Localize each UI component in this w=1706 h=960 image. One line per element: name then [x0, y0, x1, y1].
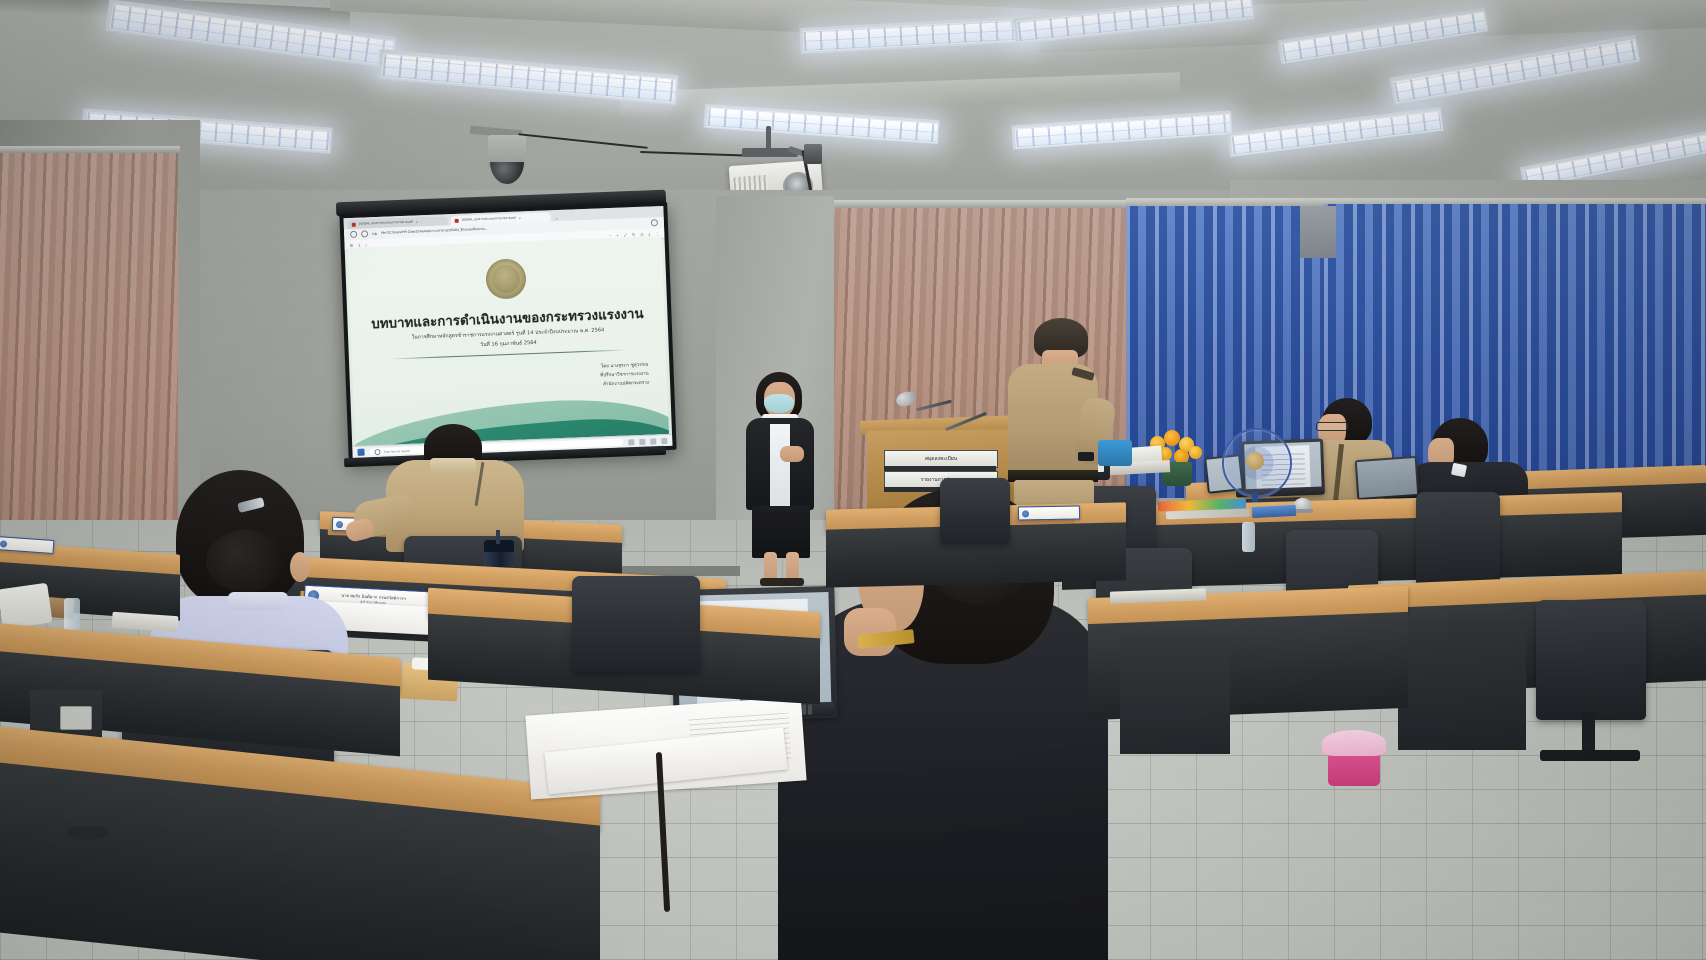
- star-icon[interactable]: [651, 219, 658, 226]
- pdf-favicon: [352, 222, 356, 226]
- print-icon[interactable]: ⎙: [640, 231, 643, 236]
- projector-accessory: [804, 144, 822, 164]
- flower: [1164, 430, 1180, 446]
- flower: [1189, 446, 1202, 459]
- collar-student-lilac: [228, 592, 288, 610]
- shirt-presenter: [770, 424, 790, 508]
- search-icon[interactable]: ⌕: [365, 242, 367, 247]
- water-tumbler-straw: [496, 530, 500, 544]
- page-number-field[interactable]: 1: [358, 242, 360, 247]
- curtain-rod-left: [0, 146, 180, 153]
- back-arrow-icon[interactable]: [350, 231, 357, 238]
- skirt-presenter: [752, 506, 810, 558]
- pdf-favicon: [455, 218, 459, 222]
- podium-binder-1-label: สมุดลงทะเบียน: [925, 455, 957, 463]
- chair-right-5[interactable]: [1536, 600, 1646, 720]
- laptop-right-far[interactable]: [1355, 456, 1420, 500]
- more-icon[interactable]: ⋮: [655, 231, 659, 236]
- bag-white-left: [0, 583, 53, 630]
- desk-cable-hole: [66, 826, 110, 840]
- chair-right-4[interactable]: [1416, 492, 1500, 588]
- slide-byline-1: โดย นางสุรภา ชูสุวรรณ: [601, 362, 649, 371]
- browser-icon[interactable]: [650, 438, 656, 444]
- new-tab-icon[interactable]: +: [556, 217, 558, 221]
- search-icon: [374, 448, 380, 454]
- garuda-ministry-emblem-icon: [485, 258, 527, 300]
- slide-byline-3: สำนักงานปลัดกระทรวง: [603, 380, 649, 389]
- placard-seal-icon: [1022, 510, 1029, 517]
- close-icon[interactable]: ×: [416, 220, 418, 224]
- floor-outlet: [60, 706, 92, 730]
- reload-icon[interactable]: [361, 230, 368, 237]
- download-icon[interactable]: ⤓: [648, 231, 650, 236]
- blue-bag-podium: [1098, 440, 1132, 466]
- classroom-scene: 165264_เอกสารประกอบการบรรยาย.pdf × 16526…: [0, 0, 1706, 960]
- chair-right-5-base: [1540, 750, 1640, 761]
- curtain-rod-back: [822, 200, 1170, 208]
- placard-right-mid-text: [1031, 513, 1076, 514]
- projection-screen: 165264_เอกสารประกอบการบรรยาย.pdf × 16526…: [339, 202, 676, 462]
- taskview-icon[interactable]: [628, 439, 634, 445]
- desk-lower-right-pedestal: [1120, 634, 1230, 754]
- address-file-label: File: [372, 231, 377, 235]
- zoom-out-icon[interactable]: −: [609, 232, 612, 237]
- book-blue-mid: [1252, 505, 1297, 518]
- mail-icon[interactable]: [661, 437, 667, 443]
- rotate-icon[interactable]: ↻: [632, 232, 636, 237]
- desk-right-front-pedestal: [1398, 620, 1526, 750]
- bottle-left-foreground: [64, 598, 80, 632]
- menu-icon[interactable]: ☰: [349, 242, 353, 247]
- pdf-slide-page: บทบาทและการดำเนินงานของกระทรวงแรงงาน ในก…: [348, 236, 669, 446]
- hair-bun-student-lilac: [206, 530, 284, 592]
- face-mask-presenter: [764, 394, 794, 413]
- placard-right-mid: [1018, 505, 1080, 520]
- placard-seal-icon: [0, 540, 7, 547]
- sanitizer-bottle: [1242, 522, 1255, 552]
- browser-tab-2-label: 165264_เอกสารประกอบการบรรยาย.pdf: [462, 216, 516, 223]
- curtain-valance: [1300, 206, 1336, 258]
- fit-page-icon[interactable]: ⤢: [624, 232, 627, 237]
- placard-edge-left-text: [9, 544, 50, 547]
- glasses-icon: [1316, 422, 1348, 431]
- taskbar-search-placeholder: Type here to search: [383, 448, 410, 453]
- watch-officer-podium: [1078, 452, 1094, 461]
- ear-student-lilac: [290, 552, 310, 582]
- chair-center-mid[interactable]: [572, 576, 700, 672]
- slide-byline-2: ที่ปรึกษาวิชาการแรงงาน: [600, 371, 649, 380]
- trash-bag-liner: [1322, 730, 1386, 756]
- collar-student-khaki: [430, 458, 476, 472]
- zoom-in-icon[interactable]: +: [616, 232, 619, 237]
- projection-screen-surface: 165264_เอกสารประกอบการบรรยาย.pdf × 16526…: [344, 206, 673, 458]
- hands-presenter: [780, 446, 804, 462]
- placard-seal-icon: [336, 521, 343, 528]
- chair-center-right[interactable]: [940, 478, 1010, 544]
- close-icon[interactable]: ×: [519, 216, 521, 220]
- explorer-icon[interactable]: [639, 438, 645, 444]
- browser-tab-1-label: 165264_เอกสารประกอบการบรรยาย.pdf: [359, 220, 413, 227]
- shoes-presenter: [760, 578, 804, 586]
- windows-start-icon[interactable]: [357, 449, 364, 456]
- desk-fan-hub: [1246, 452, 1264, 470]
- collar-officer-right-dark: [1451, 463, 1467, 478]
